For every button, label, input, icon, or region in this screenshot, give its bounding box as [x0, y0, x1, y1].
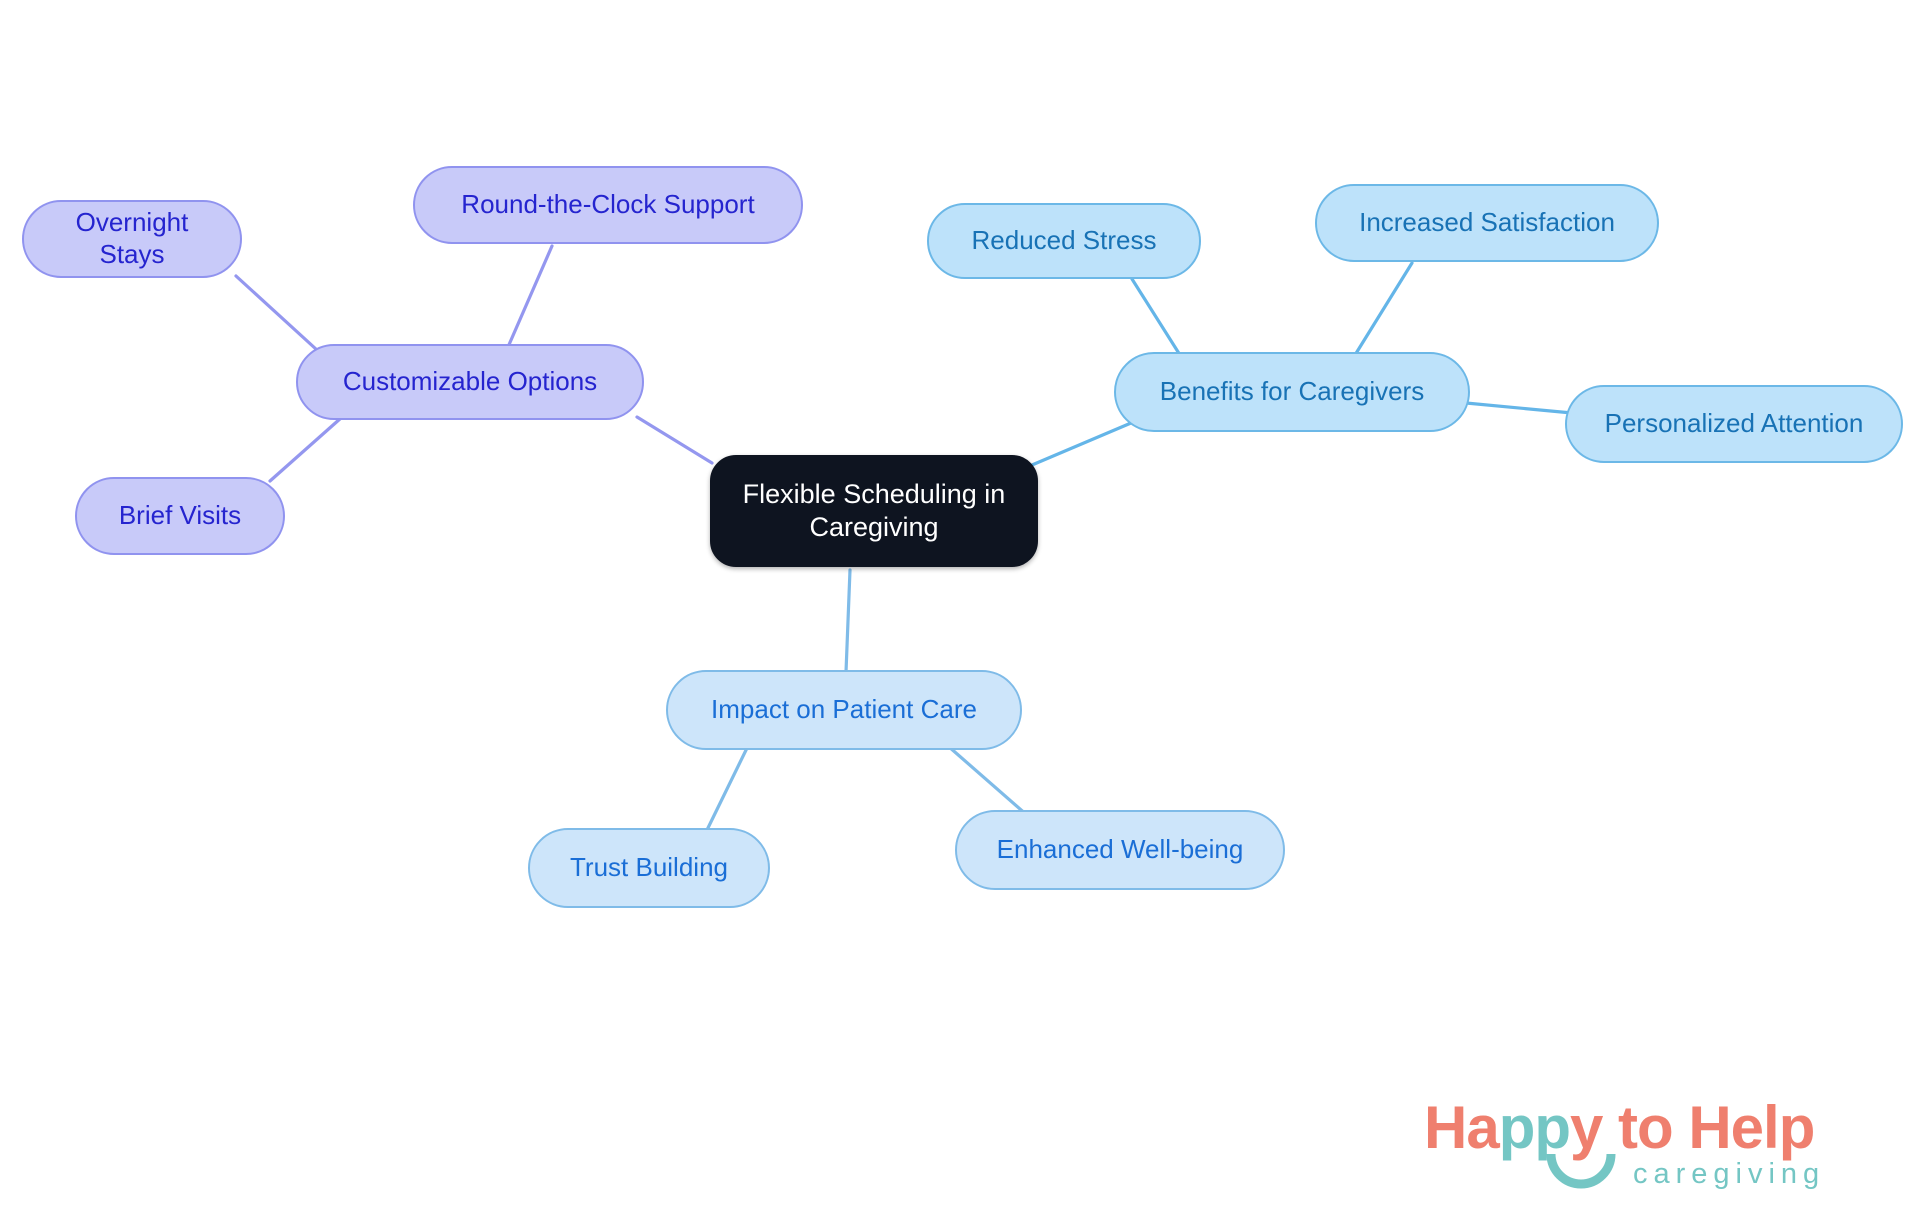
logo-smile-icon	[1545, 1150, 1617, 1196]
edge-layer	[0, 0, 1920, 1215]
edge-impact-on-patient-care-to-enhanced-well-being	[948, 746, 1028, 816]
edge-root-to-impact-on-patient-care	[846, 570, 850, 672]
node-personalized-attention[interactable]: Personalized Attention	[1565, 385, 1903, 463]
node-trust-building[interactable]: Trust Building	[528, 828, 770, 908]
logo-text-ha: Ha	[1424, 1094, 1499, 1161]
edge-root-to-customizable-options	[637, 417, 712, 463]
logo-wordmark: Happy to Help	[1424, 1098, 1814, 1158]
edge-benefits-for-caregivers-to-personalized-attention	[1466, 403, 1572, 413]
node-enhanced-well-being[interactable]: Enhanced Well-being	[955, 810, 1285, 890]
node-impact-on-patient-care[interactable]: Impact on Patient Care	[666, 670, 1022, 750]
logo-subtitle: caregiving	[1633, 1160, 1825, 1189]
node-reduced-stress[interactable]: Reduced Stress	[927, 203, 1201, 279]
node-root-flexible-scheduling[interactable]: Flexible Scheduling in Caregiving	[710, 455, 1038, 567]
node-increased-satisfaction[interactable]: Increased Satisfaction	[1315, 184, 1659, 262]
edge-customizable-options-to-round-the-clock-support	[508, 246, 552, 347]
logo-text-p: p	[1779, 1094, 1815, 1161]
edge-customizable-options-to-overnight-stays	[236, 276, 317, 350]
edge-root-to-benefits-for-caregivers	[1032, 423, 1131, 465]
edge-impact-on-patient-care-to-trust-building	[706, 746, 748, 832]
brand-logo: Happy to Help caregiving	[1424, 1098, 1894, 1203]
node-benefits-for-caregivers[interactable]: Benefits for Caregivers	[1114, 352, 1470, 432]
node-overnight-stays[interactable]: Overnight Stays	[22, 200, 242, 278]
edge-benefits-for-caregivers-to-increased-satisfaction	[1355, 263, 1412, 355]
node-brief-visits[interactable]: Brief Visits	[75, 477, 285, 555]
node-customizable-options[interactable]: Customizable Options	[296, 344, 644, 420]
edge-benefits-for-caregivers-to-reduced-stress	[1132, 279, 1180, 355]
edge-customizable-options-to-brief-visits	[270, 418, 341, 481]
mindmap-canvas: Overnight Stays Round-the-Clock Support …	[0, 0, 1920, 1215]
node-round-the-clock-support[interactable]: Round-the-Clock Support	[413, 166, 803, 244]
